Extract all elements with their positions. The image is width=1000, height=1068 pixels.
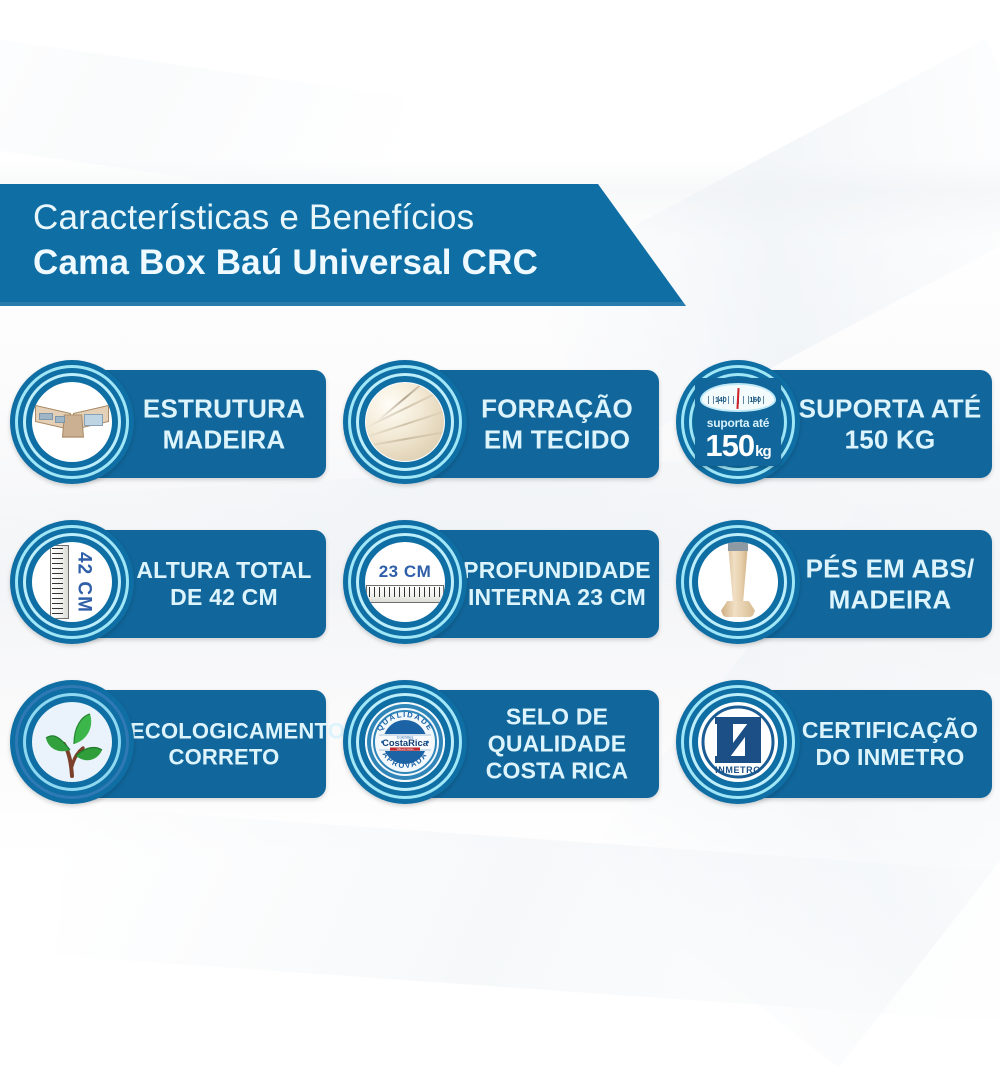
feature-profundidade-interna-23cm: PROFUNDIDADE INTERNA 23 CM 23 CM: [333, 512, 666, 672]
scale-value-number: 150: [705, 430, 754, 461]
feature-label-line2: QUALIDADE: [463, 730, 651, 757]
scale-value: 150kg: [705, 430, 770, 461]
feature-icon-medallion: 23 CM: [343, 520, 467, 644]
feature-icon-medallion: 140 160 suporta até 150kg: [676, 360, 800, 484]
feature-label-line2: CORRETO: [130, 744, 318, 770]
feature-label: ECOLOGICAMENTO CORRETO: [130, 718, 318, 769]
feature-ecologicamento-correto: ECOLOGICAMENTO CORRETO: [0, 672, 333, 832]
feature-label: FORRAÇÃO EM TECIDO: [463, 393, 651, 454]
feature-label: CERTIFICAÇÃO DO INMETRO: [796, 717, 984, 771]
scale-dial-right-number: 160: [749, 397, 761, 404]
feature-icon-medallion: [676, 520, 800, 644]
feature-label-line2: MADEIRA: [796, 584, 984, 615]
feature-icon-medallion: QUALIDADE APROVADA Colchões CostaRica Vi…: [343, 680, 467, 804]
weight-scale-icon: 140 160 suporta até 150kg: [695, 378, 781, 466]
feature-label-line1: ALTURA TOTAL: [130, 557, 318, 584]
vertical-ruler-icon: 42 CM: [33, 543, 111, 621]
feature-label-line1: FORRAÇÃO: [463, 393, 651, 424]
feature-forracao-em-tecido: FORRAÇÃO EM TECIDO: [333, 352, 666, 512]
feature-label-line1: SUPORTA ATÉ: [796, 393, 984, 424]
header-banner: Características e Benefícios Cama Box Ba…: [0, 184, 686, 306]
ruler-stick: [50, 545, 69, 619]
feature-label-line2: INTERNA 23 CM: [463, 584, 651, 611]
seal-brand: CostaRica: [382, 737, 429, 748]
scale-dial: 140 160: [700, 383, 776, 412]
feature-suporta-ate-150kg: SUPORTA ATÉ 150 KG 140 160 suporta até: [666, 352, 999, 512]
feature-estrutura-madeira: ESTRUTURA MADEIRA: [0, 352, 333, 512]
feature-label-line2: MADEIRA: [130, 424, 318, 455]
feature-certificacao-inmetro: CERTIFICAÇÃO DO INMETRO INMETRO: [666, 672, 999, 832]
costa-rica-seal-icon: QUALIDADE APROVADA Colchões CostaRica Vi…: [365, 702, 445, 782]
feature-label: ESTRUTURA MADEIRA: [130, 393, 318, 454]
feature-label-line2: DO INMETRO: [796, 744, 984, 771]
banner-subtitle: Características e Benefícios: [33, 196, 538, 241]
feature-label-line2: EM TECIDO: [463, 424, 651, 455]
feature-label: SELO DE QUALIDADE COSTA RICA: [463, 703, 651, 784]
feature-label-line2: DE 42 CM: [130, 584, 318, 611]
feature-selo-qualidade-costa-rica: SELO DE QUALIDADE COSTA RICA: [333, 672, 666, 832]
horizontal-ruler-icon: 23 CM: [365, 551, 445, 613]
banner-title: Cama Box Baú Universal CRC: [33, 241, 538, 285]
scale-value-unit: kg: [755, 444, 771, 459]
feature-label: SUPORTA ATÉ 150 KG: [796, 393, 984, 454]
feature-label-line1: CERTIFICAÇÃO: [796, 717, 984, 744]
feature-label-line1: PROFUNDIDADE: [463, 557, 651, 584]
feature-label-line1: ESTRUTURA: [130, 393, 318, 424]
ruler-measure-label: 42 CM: [73, 552, 95, 613]
background-streak: [0, 24, 405, 205]
inmetro-wordmark: INMETRO: [715, 765, 761, 775]
feature-label-line3: COSTA RICA: [463, 758, 651, 785]
feature-label-line1: ECOLOGICAMENTO: [130, 718, 318, 744]
fabric-swirl-icon: [366, 383, 444, 461]
feature-icon-medallion: [10, 680, 134, 804]
feature-icon-medallion: [10, 360, 134, 484]
infographic-canvas: Características e Benefícios Cama Box Ba…: [0, 0, 1000, 1000]
feature-altura-total-42cm: ALTURA TOTAL DE 42 CM 42 CM: [0, 512, 333, 672]
ruler-stick: [366, 585, 444, 603]
feature-label-line2: 150 KG: [796, 424, 984, 455]
feature-pes-em-abs-madeira: PÉS EM ABS/ MADEIRA: [666, 512, 999, 672]
furniture-leg-icon: [708, 542, 768, 622]
plant-sprout-icon: [34, 704, 110, 780]
feature-label: ALTURA TOTAL DE 42 CM: [130, 557, 318, 611]
scale-dial-left-number: 140: [715, 397, 727, 404]
inmetro-logo-icon: INMETRO: [699, 703, 777, 781]
feature-label: PROFUNDIDADE INTERNA 23 CM: [463, 557, 651, 611]
feature-icon-medallion: [343, 360, 467, 484]
seal-brand-tagline: Vida em Cores: [396, 747, 414, 751]
wood-frame-icon: [35, 401, 109, 443]
background-streak: [56, 806, 1000, 1024]
feature-label: PÉS EM ABS/ MADEIRA: [796, 553, 984, 614]
feature-icon-medallion: INMETRO: [676, 680, 800, 804]
feature-icon-medallion: 42 CM: [10, 520, 134, 644]
feature-label-line1: SELO DE: [463, 703, 651, 730]
ruler-measure-label: 23 CM: [379, 562, 432, 582]
feature-grid: ESTRUTURA MADEIRA: [0, 352, 1000, 832]
feature-label-line1: PÉS EM ABS/: [796, 553, 984, 584]
